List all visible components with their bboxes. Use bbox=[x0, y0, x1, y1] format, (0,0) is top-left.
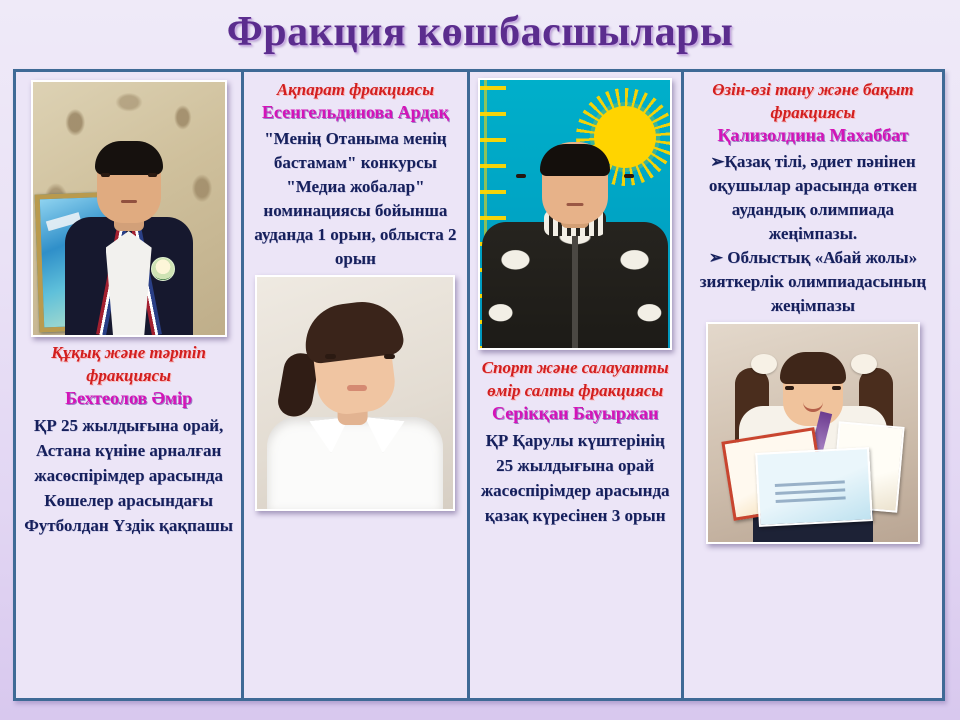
student-figure bbox=[723, 342, 903, 542]
leader-photo-ozin-ozi-tanu bbox=[706, 322, 920, 544]
certificate-blue bbox=[755, 447, 873, 527]
student-figure bbox=[482, 156, 668, 348]
leader-card-ozin-ozi-tanu: Өзін-өзі тану және бақыт фракциясы Қализ… bbox=[681, 72, 942, 698]
leader-name-4: Қализолдина Махаббат bbox=[717, 124, 908, 147]
fraction-heading-3: Спорт және салауатты өмір салты фракцияс… bbox=[476, 356, 675, 402]
leader-card-kuqyq-zhane-tartip: Құқық және тәртіп фракциясы Бехтеолов Әм… bbox=[16, 72, 241, 698]
leader-photo-kuqyq-zhane-tartip bbox=[31, 80, 227, 337]
student-figure bbox=[267, 309, 443, 509]
leader-name-3: Серікқан Бауыржан bbox=[492, 402, 658, 425]
leader-card-aqparat: Ақпарат фракциясы Есенгельдинова Ардақ "… bbox=[241, 72, 466, 698]
leader-name-2: Есенгельдинова Ардақ bbox=[262, 101, 449, 124]
achievement-list-4: ➢Қазақ тілі, әдиет пәнінен оқушылар арас… bbox=[690, 150, 936, 318]
leaders-table: Құқық және тәртіп фракциясы Бехтеолов Әм… bbox=[13, 69, 945, 701]
achievement-bullet-1: ➢Қазақ тілі, әдиет пәнінен оқушылар арас… bbox=[690, 150, 936, 246]
leader-photo-sport-salauatty-omir bbox=[478, 78, 672, 350]
fraction-heading-1: Құқық және тәртіп фракциясы bbox=[22, 341, 235, 387]
page-title: Фракция көшбасшылары bbox=[0, 4, 960, 60]
school-emblem-badge bbox=[151, 257, 175, 281]
achievement-bullet-2: ➢ Облыстық «Абай жолы» зияткерлік олимпи… bbox=[690, 246, 936, 318]
hair-bow-right bbox=[851, 354, 877, 374]
fraction-heading-4: Өзін-өзі тану және бақыт фракциясы bbox=[690, 78, 936, 124]
leader-name-1: Бехтеолов Әмір bbox=[65, 387, 192, 410]
achievement-text-3: ҚР Қарулы күштерінің 25 жылдығына орай ж… bbox=[476, 428, 675, 528]
achievement-text-1: ҚР 25 жылдығына орай, Астана күніне арна… bbox=[22, 413, 235, 538]
fraction-heading-2: Ақпарат фракциясы bbox=[277, 78, 434, 101]
hair-bow-left bbox=[751, 354, 777, 374]
achievement-text-2: "Менің Отаныма менің бастамам" конкурсы … bbox=[250, 127, 460, 271]
leader-card-sport-salauatty-omir: Спорт және салауатты өмір салты фракцияс… bbox=[467, 72, 681, 698]
leader-photo-aqparat bbox=[255, 275, 455, 511]
student-figure bbox=[65, 139, 193, 335]
